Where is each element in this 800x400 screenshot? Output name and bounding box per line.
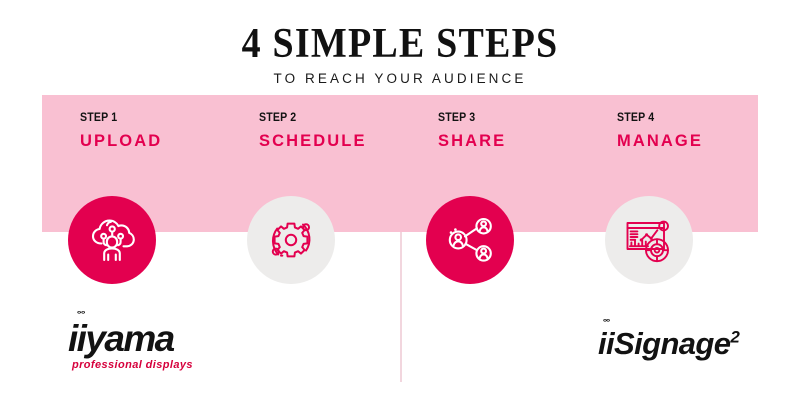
step-4-kicker: STEP 4 bbox=[617, 112, 747, 125]
iiyama-logo-dots: ˚˚ bbox=[68, 314, 248, 320]
iisignage-logo: ˚˚ iiSignage2 bbox=[598, 320, 778, 360]
step-3-kicker: STEP 3 bbox=[438, 112, 568, 125]
step-2-labels: STEP 2 SCHEDULE bbox=[221, 112, 400, 151]
step-3-labels: STEP 3 SHARE bbox=[400, 112, 579, 151]
cloud-user-upload-icon bbox=[85, 214, 139, 266]
page-title: 4 SIMPLE STEPS bbox=[0, 0, 800, 66]
iisignage-logo-word-text: iiSignage bbox=[598, 326, 730, 361]
step-1-kicker: STEP 1 bbox=[80, 112, 210, 125]
step-2-icon-circle[interactable] bbox=[247, 196, 335, 284]
iiyama-logo: ˚˚ iiyama professional displays bbox=[68, 312, 248, 371]
header: 4 SIMPLE STEPS TO REACH YOUR AUDIENCE bbox=[0, 0, 800, 87]
step-4-labels: STEP 4 MANAGE bbox=[579, 112, 758, 151]
step-2-name: SCHEDULE bbox=[259, 132, 400, 151]
analytics-dashboard-gear-icon bbox=[622, 215, 676, 265]
step-2-kicker: STEP 2 bbox=[259, 112, 389, 125]
step-3-name: SHARE bbox=[438, 132, 579, 151]
step-4-icon-circle[interactable] bbox=[605, 196, 693, 284]
iiyama-logo-wordmark: iiyama bbox=[68, 320, 248, 358]
step-3-icon-circle[interactable] bbox=[426, 196, 514, 284]
step-item-4[interactable]: STEP 4 MANAGE bbox=[579, 95, 758, 295]
step-1-labels: STEP 1 UPLOAD bbox=[42, 112, 221, 151]
step-item-2[interactable]: STEP 2 SCHEDULE bbox=[221, 95, 400, 295]
gear-orbit-icon bbox=[265, 214, 317, 266]
step-item-3[interactable]: STEP 3 SHARE bbox=[400, 95, 579, 295]
iisignage-logo-wordmark: iiSignage2 bbox=[598, 327, 778, 360]
vertical-divider bbox=[400, 232, 402, 382]
iisignage-logo-superscript: 2 bbox=[730, 328, 739, 347]
share-network-people-icon bbox=[444, 215, 496, 265]
iisignage-logo-dots: ˚˚ bbox=[598, 322, 778, 327]
iiyama-logo-tagline: professional displays bbox=[68, 359, 248, 371]
step-item-1[interactable]: STEP 1 UPLOAD bbox=[42, 95, 221, 295]
step-4-name: MANAGE bbox=[617, 132, 758, 151]
step-1-name: UPLOAD bbox=[80, 132, 221, 151]
step-1-icon-circle[interactable] bbox=[68, 196, 156, 284]
